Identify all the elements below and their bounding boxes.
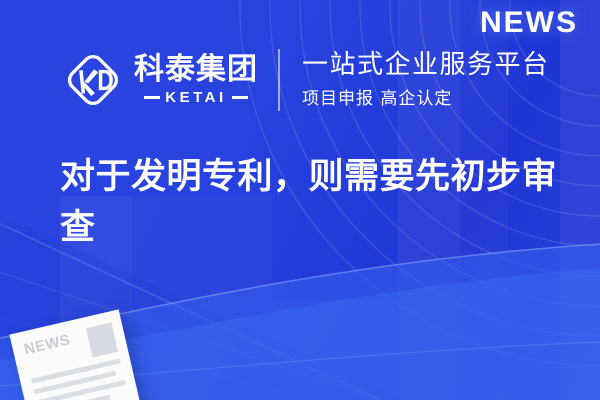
newspaper-thumbnail [86, 322, 118, 357]
dash-left-icon [144, 96, 160, 99]
brand-name-cn: 科泰集团 [134, 54, 258, 86]
news-banner: NEWS 科泰集团 KETAI [0, 0, 600, 400]
brand-name-en: KETAI [165, 89, 226, 106]
news-badge: NEWS [480, 6, 578, 40]
brand-wordmark: 科泰集团 KETAI [134, 54, 258, 106]
banner-header: 科泰集团 KETAI 一站式企业服务平台 项目申报 高企认定 [62, 40, 550, 120]
tagline: 一站式企业服务平台 项目申报 高企认定 [302, 51, 550, 110]
newspaper-title: NEWS [23, 332, 72, 357]
header-divider [278, 49, 280, 111]
brand-logo[interactable]: 科泰集团 KETAI [62, 49, 258, 111]
headline-text: 对于发明专利，则需要先初步审查 [60, 152, 560, 254]
tagline-sub: 项目申报 高企认定 [302, 84, 550, 109]
tagline-main: 一站式企业服务平台 [302, 51, 550, 81]
ketai-monogram-icon [62, 49, 124, 111]
brand-name-en-row: KETAI [144, 89, 247, 106]
dash-right-icon [232, 96, 248, 99]
